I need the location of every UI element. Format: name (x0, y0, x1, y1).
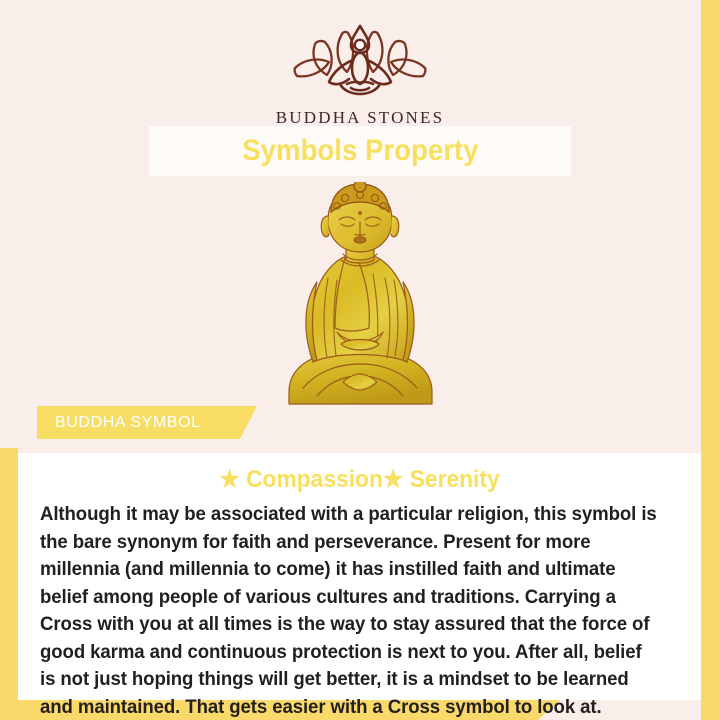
category-ribbon: BUDDHA SYMBOL (37, 406, 257, 439)
infographic-page: BUDDHA STONES Symbols Property (0, 0, 720, 720)
content-body-text: Although it may be associated with a par… (40, 501, 660, 720)
header-section: BUDDHA STONES Symbols Property (19, 0, 701, 453)
content-subheading: ★ Compassion★ Serenity (56, 467, 663, 493)
content-card: ★ Compassion★ Serenity Although it may b… (18, 453, 701, 700)
decor-right-bar (701, 0, 720, 720)
hero-image (19, 182, 701, 410)
golden-buddha-statue (273, 182, 448, 410)
lotus-meditation-icon (285, 24, 435, 104)
page-title: Symbols Property (242, 134, 478, 168)
brand-logo: BUDDHA STONES (19, 24, 701, 128)
decor-left-bar (0, 448, 18, 720)
title-banner: Symbols Property (150, 127, 570, 175)
category-ribbon-label: BUDDHA SYMBOL (55, 414, 201, 432)
brand-name: BUDDHA STONES (276, 108, 445, 128)
